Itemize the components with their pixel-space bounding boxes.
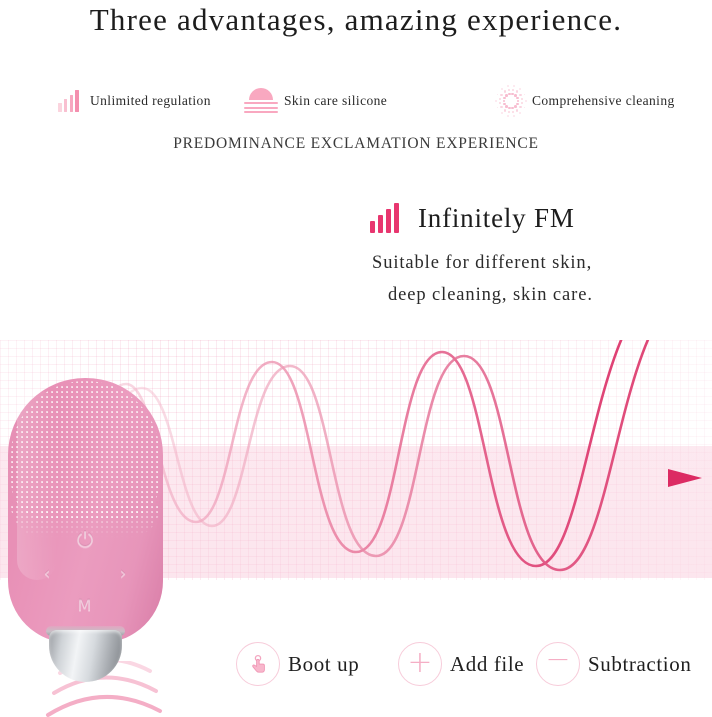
legend-label: Subtraction — [588, 652, 691, 677]
minus-glyph: − — [545, 645, 570, 675]
control-legend: Boot up + Add file − Subtraction — [236, 640, 712, 688]
highlight-line-2: deep cleaning, skin care. — [388, 285, 710, 306]
device-control-panel: ⏻ ‹ › M — [8, 528, 163, 623]
legend-label: Add file — [450, 652, 524, 677]
feature-item-unlimited-regulation: Unlimited regulation — [58, 84, 211, 118]
page-title: Three advantages, amazing experience. — [0, 2, 712, 38]
radial-burst-icon — [496, 86, 526, 116]
feature-label: Unlimited regulation — [90, 93, 211, 109]
highlight-line-1: Suitable for different skin, — [372, 253, 710, 274]
signal-bars-icon — [370, 203, 404, 233]
highlight-title-row: Infinitely FM — [370, 198, 710, 238]
highlight-title: Infinitely FM — [418, 203, 575, 234]
dome-lines-icon — [244, 88, 278, 114]
legend-label: Boot up — [288, 652, 359, 677]
device-bristle-texture — [11, 381, 160, 521]
touch-hand-icon — [236, 642, 280, 686]
feature-label: Skin care silicone — [284, 93, 387, 109]
page-subtitle: PREDOMINANCE EXCLAMATION EXPERIENCE — [0, 135, 712, 153]
legend-item-boot-up: Boot up — [236, 640, 359, 688]
minus-icon: − — [536, 642, 580, 686]
plus-icon: + — [398, 642, 442, 686]
feature-item-skin-care-silicone: Skin care silicone — [244, 84, 387, 118]
highlight-block: Infinitely FM Suitable for different ski… — [370, 198, 710, 306]
product-device: ⏻ ‹ › M — [8, 378, 163, 688]
axis-arrow-icon — [668, 469, 702, 487]
mode-button-icon[interactable]: M — [70, 596, 100, 615]
feature-list: Unlimited regulation Skin care silicone … — [52, 84, 712, 118]
next-button-icon[interactable]: › — [112, 564, 134, 584]
device-body: ⏻ ‹ › M — [8, 378, 163, 643]
feature-item-comprehensive-cleaning: Comprehensive cleaning — [496, 84, 675, 118]
legend-item-add-file: + Add file — [398, 640, 524, 688]
signal-bars-icon — [58, 90, 84, 112]
feature-label: Comprehensive cleaning — [532, 93, 675, 109]
plus-glyph: + — [407, 648, 432, 678]
promo-page: Three advantages, amazing experience. Un… — [0, 0, 712, 717]
power-button-icon[interactable]: ⏻ — [70, 528, 100, 553]
legend-item-subtraction: − Subtraction — [536, 640, 691, 688]
previous-button-icon[interactable]: ‹ — [36, 564, 58, 584]
